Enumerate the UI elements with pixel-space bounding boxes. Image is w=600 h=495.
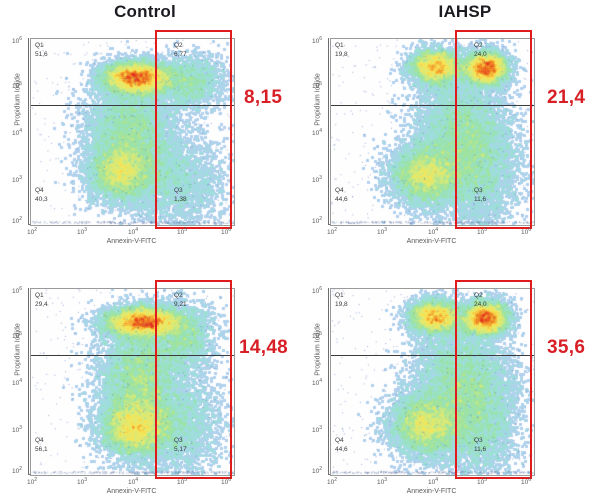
y-tick-2: 104 bbox=[312, 128, 322, 137]
quadrant-label-q2: Q2 24,0 bbox=[474, 292, 487, 310]
y-axis-ticks: 106 105 104 103 102 bbox=[302, 286, 322, 474]
quadrant-label-q4: Q4 44,6 bbox=[335, 437, 348, 455]
x-tick-1: 103 bbox=[77, 227, 87, 236]
quadrant-value-q4: 56,1 bbox=[35, 446, 48, 455]
gate-percent-iahsp-bottom: 35,6 bbox=[547, 337, 585, 359]
quadrant-label-q4: Q4 40,3 bbox=[35, 187, 48, 205]
quadrant-label-q1: Q1 29,4 bbox=[35, 292, 48, 310]
x-tick-1: 103 bbox=[377, 227, 387, 236]
y-axis-ticks: 106 105 104 103 102 bbox=[302, 36, 322, 224]
x-tick-2: 104 bbox=[428, 477, 438, 486]
quadrant-divider-horizontal bbox=[31, 105, 234, 106]
y-tick-0: 106 bbox=[12, 286, 22, 295]
density-plot-control-bottom[interactable]: Q1 29,4 Q2 9,21 Q4 56,1 Q3 5,17 bbox=[30, 288, 235, 476]
x-tick-2: 104 bbox=[128, 227, 138, 236]
x-tick-0: 102 bbox=[27, 227, 37, 236]
x-tick-3: 105 bbox=[177, 227, 187, 236]
density-canvas bbox=[331, 39, 534, 225]
y-axis-spine bbox=[28, 38, 29, 224]
y-tick-1: 105 bbox=[12, 81, 22, 90]
quadrant-label-q3: Q3 11,6 bbox=[474, 437, 486, 455]
quadrant-value-q1: 19,8 bbox=[335, 51, 348, 60]
quadrant-label-q3: Q3 11,6 bbox=[474, 187, 486, 205]
x-tick-4: 106 bbox=[521, 227, 531, 236]
quadrant-value-q4: 44,6 bbox=[335, 446, 348, 455]
y-axis-spine bbox=[328, 38, 329, 224]
quadrant-divider-horizontal bbox=[31, 355, 234, 356]
x-tick-3: 105 bbox=[477, 477, 487, 486]
density-plot-iahsp-top[interactable]: Q1 19,8 Q2 24,0 Q4 44,6 Q3 11,6 bbox=[330, 38, 535, 226]
quadrant-label-q4: Q4 56,1 bbox=[35, 437, 48, 455]
quadrant-value-q2: 6,77 bbox=[174, 51, 187, 60]
panel-iahsp-top: Propidium Iodide 106 105 104 103 102 Q1 … bbox=[300, 0, 600, 245]
y-tick-3: 103 bbox=[12, 175, 22, 184]
panel-control-bottom: Propidium Iodide 106 105 104 103 102 Q1 … bbox=[0, 250, 300, 495]
y-tick-4: 102 bbox=[312, 466, 322, 475]
quadrant-label-q2: Q2 24,0 bbox=[474, 42, 487, 60]
quadrant-divider-vertical bbox=[156, 39, 157, 225]
y-axis-ticks: 106 105 104 103 102 bbox=[2, 286, 22, 474]
quadrant-label-q3: Q3 5,17 bbox=[174, 437, 187, 455]
x-tick-3: 105 bbox=[477, 227, 487, 236]
quadrant-value-q1: 19,8 bbox=[335, 301, 348, 310]
density-canvas bbox=[331, 289, 534, 475]
y-tick-1: 105 bbox=[312, 331, 322, 340]
density-canvas bbox=[31, 39, 234, 225]
x-tick-0: 102 bbox=[27, 477, 37, 486]
density-canvas bbox=[31, 289, 234, 475]
y-tick-0: 106 bbox=[312, 36, 322, 45]
panel-iahsp-bottom: Propidium Iodide 106 105 104 103 102 Q1 … bbox=[300, 250, 600, 495]
x-axis-title: Annexin-V-FITC bbox=[30, 238, 233, 245]
y-tick-1: 105 bbox=[312, 81, 322, 90]
quadrant-value-q4: 44,6 bbox=[335, 196, 348, 205]
quadrant-value-q3: 1,38 bbox=[174, 196, 187, 205]
quadrant-value-q2: 24,0 bbox=[474, 51, 487, 60]
x-tick-4: 106 bbox=[221, 477, 231, 486]
quadrant-label-q3: Q3 1,38 bbox=[174, 187, 187, 205]
y-tick-0: 106 bbox=[12, 36, 22, 45]
x-axis-title: Annexin-V-FITC bbox=[330, 238, 533, 245]
y-tick-4: 102 bbox=[12, 216, 22, 225]
y-tick-0: 106 bbox=[312, 286, 322, 295]
panel-control-top: Propidium Iodide 106 105 104 103 102 Q1 … bbox=[0, 0, 300, 245]
quadrant-divider-vertical bbox=[456, 289, 457, 475]
y-tick-1: 105 bbox=[12, 331, 22, 340]
quadrant-divider-horizontal bbox=[331, 355, 534, 356]
y-tick-3: 103 bbox=[312, 175, 322, 184]
y-tick-3: 103 bbox=[12, 425, 22, 434]
gate-percent-control-top: 8,15 bbox=[244, 87, 282, 109]
x-tick-4: 106 bbox=[521, 477, 531, 486]
quadrant-label-q1: Q1 51,6 bbox=[35, 42, 48, 60]
gate-percent-iahsp-top: 21,4 bbox=[547, 87, 585, 109]
quadrant-value-q3: 11,6 bbox=[474, 446, 486, 455]
quadrant-label-q1: Q1 19,8 bbox=[335, 292, 348, 310]
quadrant-value-q4: 40,3 bbox=[35, 196, 48, 205]
x-axis-title: Annexin-V-FITC bbox=[330, 488, 533, 495]
density-plot-iahsp-bottom[interactable]: Q1 19,8 Q2 24,0 Q4 44,6 Q3 11,6 bbox=[330, 288, 535, 476]
x-tick-4: 106 bbox=[221, 227, 231, 236]
x-tick-0: 102 bbox=[327, 227, 337, 236]
x-tick-3: 105 bbox=[177, 477, 187, 486]
x-tick-1: 103 bbox=[77, 477, 87, 486]
y-tick-2: 104 bbox=[12, 378, 22, 387]
gate-percent-control-bottom: 14,48 bbox=[239, 337, 288, 359]
x-tick-2: 104 bbox=[128, 477, 138, 486]
quadrant-value-q1: 29,4 bbox=[35, 301, 48, 310]
y-axis-spine bbox=[28, 288, 29, 474]
density-plot-control-top[interactable]: Q1 51,6 Q2 6,77 Q4 40,3 Q3 1,38 bbox=[30, 38, 235, 226]
y-tick-4: 102 bbox=[12, 466, 22, 475]
quadrant-label-q2: Q2 9,21 bbox=[174, 292, 187, 310]
x-tick-2: 104 bbox=[428, 227, 438, 236]
quadrant-divider-vertical bbox=[156, 289, 157, 475]
quadrant-value-q3: 5,17 bbox=[174, 446, 187, 455]
quadrant-label-q4: Q4 44,6 bbox=[335, 187, 348, 205]
quadrant-label-q2: Q2 6,77 bbox=[174, 42, 187, 60]
quadrant-divider-vertical bbox=[456, 39, 457, 225]
x-axis-title: Annexin-V-FITC bbox=[30, 488, 233, 495]
quadrant-value-q2: 24,0 bbox=[474, 301, 487, 310]
y-tick-2: 104 bbox=[12, 128, 22, 137]
quadrant-value-q1: 51,6 bbox=[35, 51, 48, 60]
x-tick-0: 102 bbox=[327, 477, 337, 486]
y-tick-3: 103 bbox=[312, 425, 322, 434]
quadrant-divider-horizontal bbox=[331, 105, 534, 106]
quadrant-label-q1: Q1 19,8 bbox=[335, 42, 348, 60]
quadrant-value-q2: 9,21 bbox=[174, 301, 187, 310]
flow-cytometry-figure: Control IAHSP Propidium Iodide 106 105 1… bbox=[0, 0, 600, 495]
x-tick-1: 103 bbox=[377, 477, 387, 486]
y-tick-4: 102 bbox=[312, 216, 322, 225]
y-axis-spine bbox=[328, 288, 329, 474]
quadrant-value-q3: 11,6 bbox=[474, 196, 486, 205]
y-axis-ticks: 106 105 104 103 102 bbox=[2, 36, 22, 224]
y-tick-2: 104 bbox=[312, 378, 322, 387]
